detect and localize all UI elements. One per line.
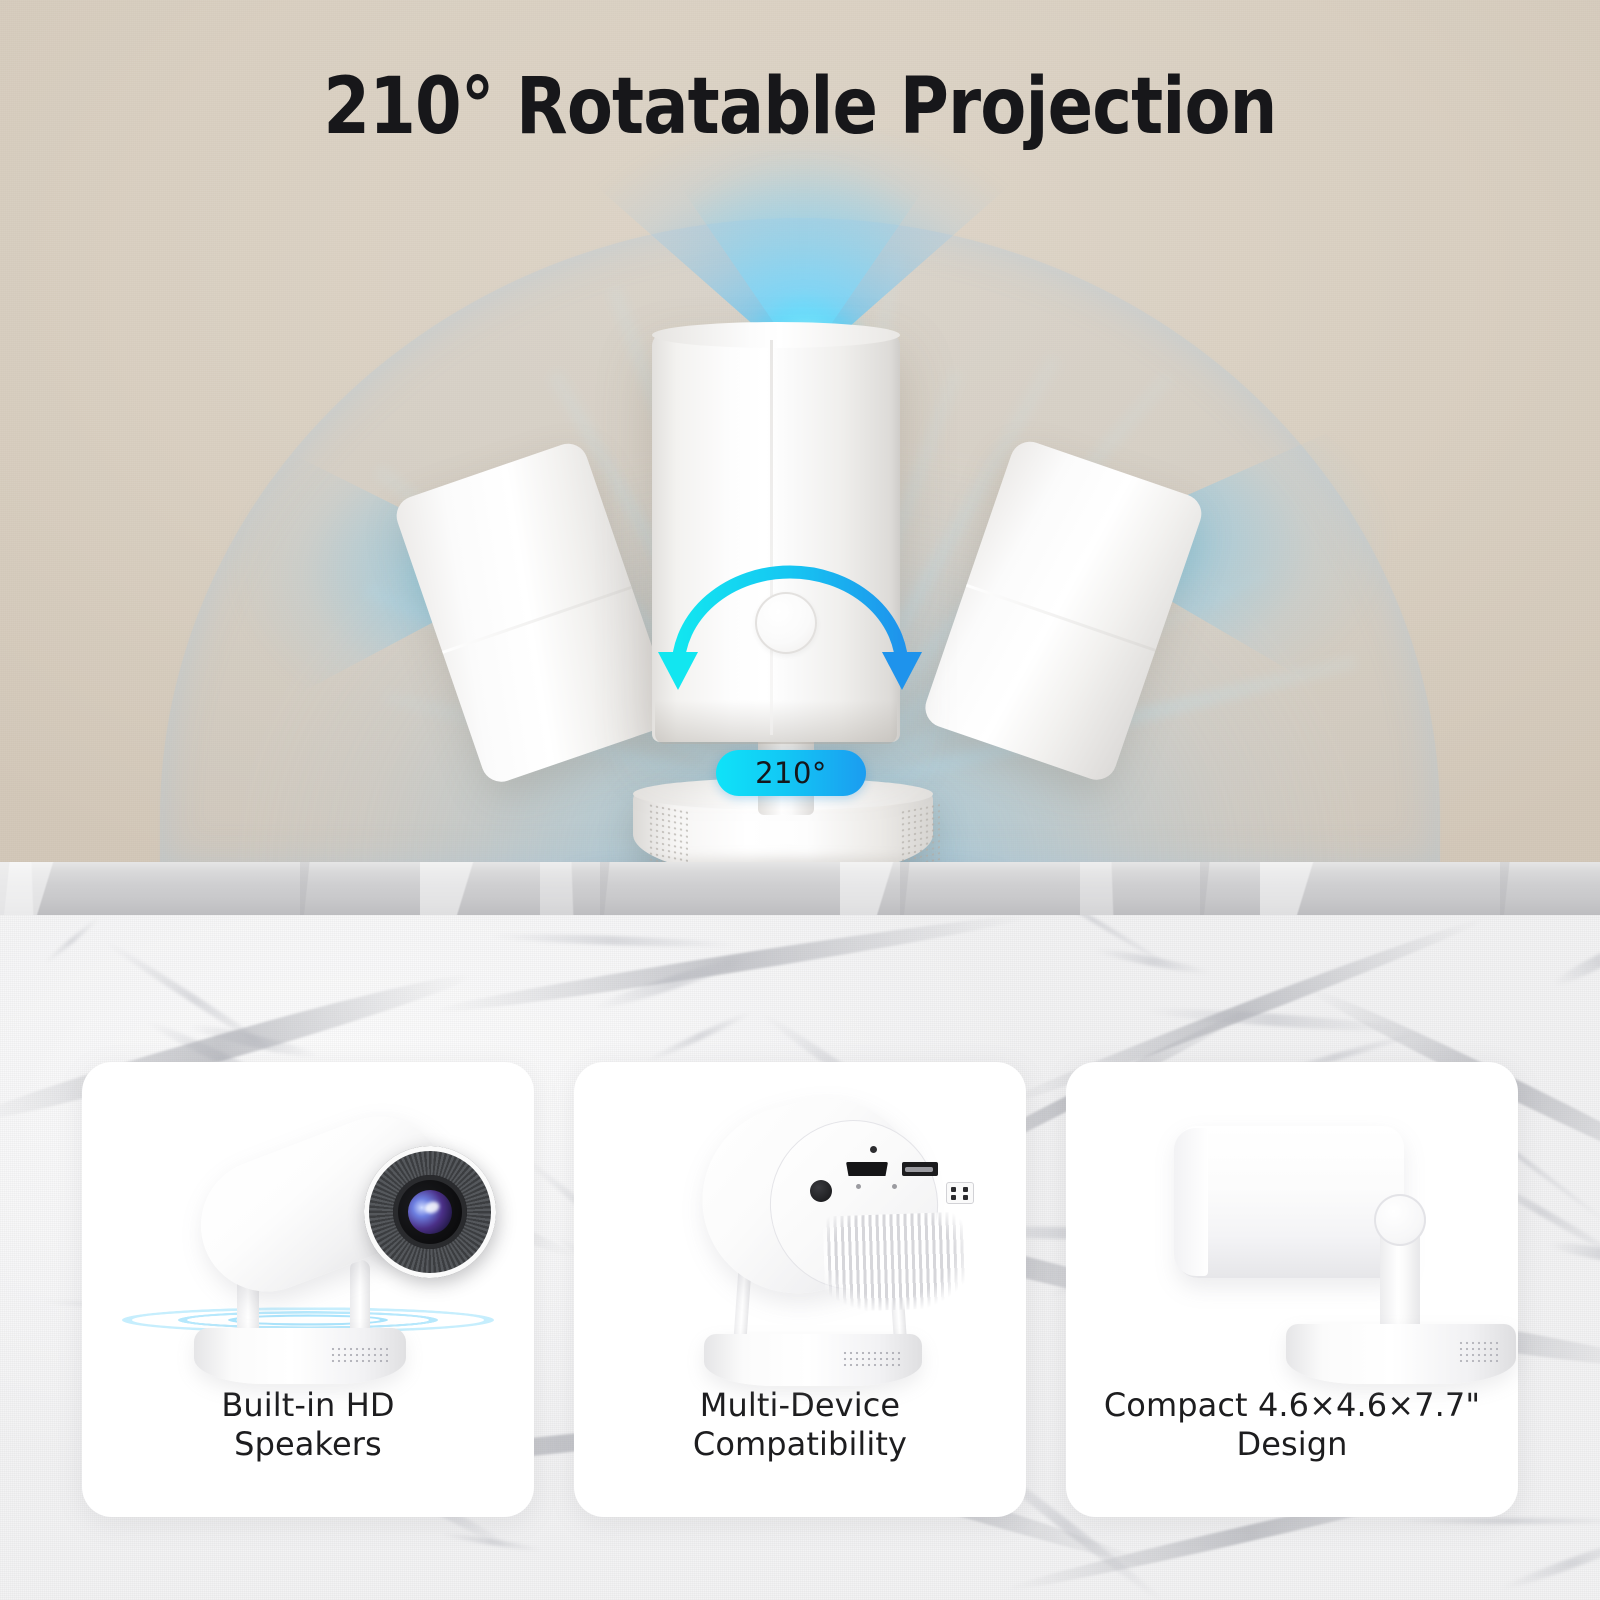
projector-rear-ports-art [574, 1062, 1026, 1382]
base-speaker-grille-icon [1458, 1340, 1498, 1362]
counter-edge [0, 862, 1600, 915]
feature-label-line-1: Compact 4.6×4.6×7.7" [1104, 1386, 1480, 1424]
power-connector-icon [946, 1182, 974, 1204]
projector-body-top [652, 322, 900, 348]
hdmi-port-icon [846, 1162, 888, 1176]
vent-slats-icon [822, 1212, 967, 1313]
projector-side-profile-art [1066, 1062, 1518, 1382]
feature-label-line-2: Speakers [234, 1425, 382, 1463]
ir-sensor-icon [870, 1146, 877, 1153]
usb-port-tongue [905, 1167, 933, 1172]
feature-card-speakers[interactable]: Built-in HD Speakers [82, 1062, 534, 1517]
projector-body-shade [655, 700, 897, 744]
feature-card-list: Built-in HD Speakers [82, 1062, 1518, 1517]
feature-card-label: Compact 4.6×4.6×7.7" Design [1082, 1386, 1502, 1464]
feature-card-label: Multi-Device Compatibility [671, 1386, 929, 1464]
projector-barrel [1176, 1126, 1404, 1278]
page-title: 210° Rotatable Projection [112, 62, 1488, 152]
screw-left-icon [856, 1184, 861, 1189]
feature-label-line-1: Multi-Device [700, 1386, 900, 1424]
feature-card-compact[interactable]: Compact 4.6×4.6×7.7" Design [1066, 1062, 1518, 1517]
lens-inner-icon [382, 1164, 478, 1260]
rotation-arc-arrow-icon [640, 540, 940, 690]
feature-card-label: Built-in HD Speakers [199, 1386, 416, 1464]
feature-label-line-2: Compatibility [693, 1425, 907, 1463]
feature-label-line-1: Built-in HD [221, 1386, 394, 1424]
hero-section: 210° 210° Rotatable Projection [0, 0, 1600, 915]
feature-label-line-2: Design [1236, 1425, 1347, 1463]
base-speaker-grille-icon [330, 1346, 388, 1364]
dc-power-port-icon [810, 1180, 832, 1202]
base-speaker-grille-icon [842, 1350, 900, 1368]
rotation-degree-badge: 210° [716, 750, 866, 796]
projector-front-lens-art [82, 1062, 534, 1382]
screw-right-icon [892, 1184, 897, 1189]
feature-card-compatibility[interactable]: Multi-Device Compatibility [574, 1062, 1026, 1517]
projector-hinge-knob [1374, 1194, 1426, 1246]
